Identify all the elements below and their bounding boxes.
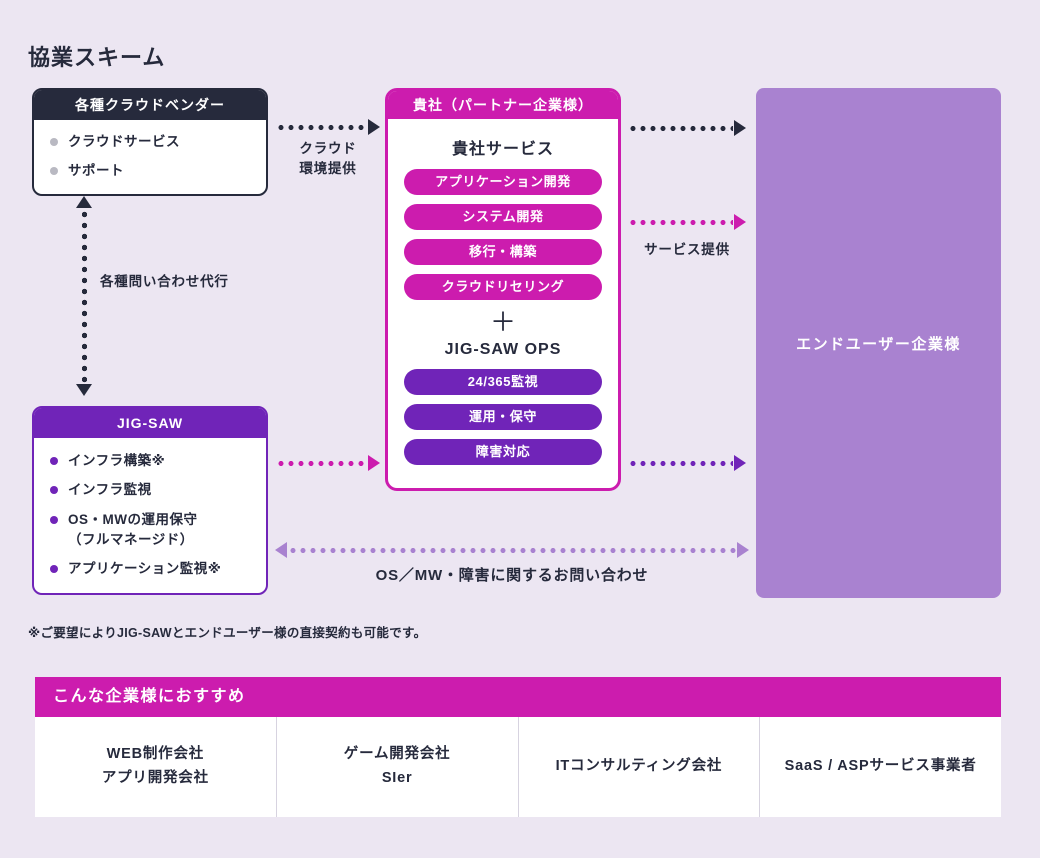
plus-icon: ＋ [398, 309, 608, 335]
table-cell: ゲーム開発会社 SIer [277, 717, 519, 817]
footnote: ※ご要望によりJIG-SAWとエンドユーザー様の直接契約も可能です。 [28, 622, 426, 641]
partner-company-body: 貴社サービス アプリケーション開発 システム開発 移行・構築 クラウドリセリング… [388, 119, 618, 488]
end-user-company-label: エンドユーザー企業様 [796, 333, 961, 354]
arrow-dotted-line [628, 220, 733, 225]
list-item-label: アプリケーション監視※ [68, 559, 221, 579]
arrow-ops-to-enduser [628, 456, 746, 470]
arrow-dotted-line [288, 548, 736, 553]
arrow-head-left-icon [275, 542, 287, 558]
table-cell: SaaS / ASPサービス事業者 [760, 717, 1001, 817]
service-pill-system-development: システム開発 [404, 204, 602, 230]
service-pill-cloud-reselling: クラウドリセリング [404, 274, 602, 300]
cloud-vendor-header: 各種クラウドベンダー [34, 90, 266, 120]
arrow-label-inquiry-proxy: 各種問い合わせ代行 [100, 272, 290, 292]
list-item: インフラ構築※ [50, 451, 256, 471]
jigsaw-list: インフラ構築※ インフラ監視 OS・MWの運用保守 （フルマネージド） アプリケ… [34, 438, 266, 593]
jigsaw-header: JIG-SAW [34, 408, 266, 438]
arrow-label-osmw-inquiry: OS／MW・障害に関するお問い合わせ [275, 565, 749, 587]
arrow-head-right-icon [737, 542, 749, 558]
arrow-dotted-line [276, 461, 367, 466]
arrow-label-service-provision: サービス提供 [620, 240, 754, 260]
arrow-dotted-line [628, 461, 733, 466]
ops-title: JIG-SAW OPS [398, 341, 608, 359]
recommended-companies-header: こんな企業様におすすめ [35, 677, 1001, 717]
list-item: アプリケーション監視※ [50, 559, 256, 579]
jigsaw-card: JIG-SAW インフラ構築※ インフラ監視 OS・MWの運用保守 （フルマネー… [32, 406, 268, 595]
bullet-dot-icon [50, 516, 58, 524]
bullet-dot-icon [50, 486, 58, 494]
partner-service-title: 貴社サービス [398, 135, 608, 159]
bullet-dot-icon [50, 457, 58, 465]
arrow-head-up-icon [76, 196, 92, 208]
ops-pill-operation-maintenance: 運用・保守 [404, 404, 602, 430]
list-item-label: クラウドサービス [68, 132, 180, 152]
recommended-companies-row: WEB制作会社 アプリ開発会社 ゲーム開発会社 SIer ITコンサルティング会… [35, 717, 1001, 817]
bullet-dot-icon [50, 565, 58, 573]
arrow-head-right-icon [368, 455, 380, 471]
arrow-partner-to-enduser-top [628, 121, 746, 135]
arrow-jigsaw-to-partner [276, 456, 380, 470]
partner-company-header: 貴社（パートナー企業様） [388, 91, 618, 119]
arrow-osmw-inquiry [275, 543, 749, 557]
list-item: クラウドサービス [50, 132, 252, 152]
bullet-dot-icon [50, 138, 58, 146]
ops-pill-monitoring: 24/365監視 [404, 369, 602, 395]
list-item: サポート [50, 161, 252, 181]
arrow-head-right-icon [734, 455, 746, 471]
list-item-label: OS・MWの運用保守 （フルマネージド） [68, 510, 198, 551]
page-title: 協業スキーム [28, 40, 165, 72]
partner-company-card: 貴社（パートナー企業様） 貴社サービス アプリケーション開発 システム開発 移行… [385, 88, 621, 491]
list-item: インフラ監視 [50, 480, 256, 500]
arrow-dotted-line [628, 126, 733, 131]
diagram-root: 協業スキーム 各種クラウドベンダー クラウドサービス サポート JIG-SAW … [0, 0, 1040, 858]
arrow-inquiry-proxy [76, 196, 92, 396]
cloud-vendor-card: 各種クラウドベンダー クラウドサービス サポート [32, 88, 268, 196]
arrow-head-right-icon [734, 214, 746, 230]
arrow-dotted-line [276, 125, 367, 130]
arrow-cloud-environment [276, 120, 380, 134]
list-item-label: インフラ構築※ [68, 451, 165, 471]
arrow-head-down-icon [76, 384, 92, 396]
arrow-label-cloud-environment: クラウド 環境提供 [270, 139, 386, 178]
table-cell: WEB制作会社 アプリ開発会社 [35, 717, 277, 817]
bullet-dot-icon [50, 167, 58, 175]
table-cell: ITコンサルティング会社 [519, 717, 761, 817]
arrow-dotted-line [82, 209, 87, 383]
arrow-head-right-icon [734, 120, 746, 136]
list-item-label: インフラ監視 [68, 480, 152, 500]
service-pill-migration-build: 移行・構築 [404, 239, 602, 265]
service-pill-app-development: アプリケーション開発 [404, 169, 602, 195]
cloud-vendor-list: クラウドサービス サポート [34, 120, 266, 194]
end-user-company-box: エンドユーザー企業様 [756, 88, 1001, 598]
arrow-service-provision [628, 215, 746, 229]
arrow-head-right-icon [368, 119, 380, 135]
recommended-companies-table: こんな企業様におすすめ WEB制作会社 アプリ開発会社 ゲーム開発会社 SIer… [35, 677, 1001, 817]
list-item: OS・MWの運用保守 （フルマネージド） [50, 510, 256, 551]
list-item-label: サポート [68, 161, 124, 181]
ops-pill-incident-response: 障害対応 [404, 439, 602, 465]
